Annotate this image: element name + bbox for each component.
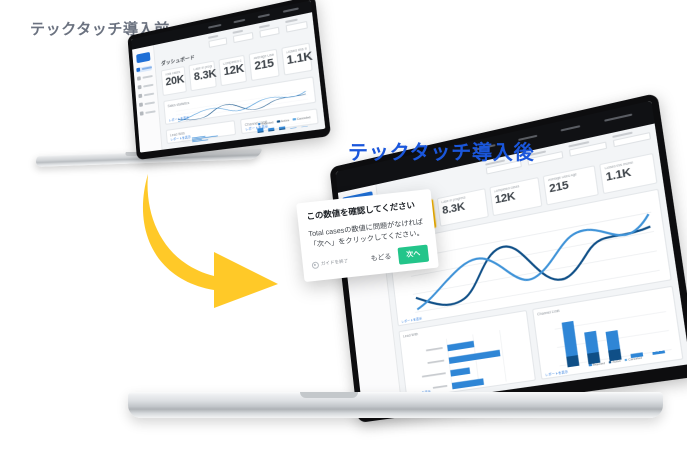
kpi-card-total-cases[interactable]: Total cases 20K bbox=[161, 65, 188, 96]
kpi-card-case-in-progress[interactable]: Case in progress 8.3K bbox=[189, 60, 217, 91]
tooltip-body: Total casesの数値に問題がなければ「次へ」をクリックしてください。 bbox=[308, 215, 427, 250]
laptop-after-notch bbox=[300, 392, 358, 398]
kpi-card-closed-this-month[interactable]: Closed this month 1.1K bbox=[281, 42, 313, 76]
folder-icon bbox=[137, 76, 141, 81]
laptop-after-base bbox=[128, 392, 663, 418]
help-icon bbox=[140, 111, 144, 115]
sidebar-item-settings[interactable] bbox=[139, 100, 155, 107]
gear-icon bbox=[139, 102, 143, 107]
sidebar-item-customers[interactable] bbox=[138, 91, 154, 99]
filter-status[interactable] bbox=[286, 16, 308, 32]
kpi-value: 1.1K bbox=[286, 51, 309, 70]
kpi-card-completed-cases[interactable]: Completed cases 12K bbox=[218, 54, 247, 86]
filter-period[interactable] bbox=[208, 33, 228, 48]
sidebar-item-dashboard[interactable] bbox=[136, 65, 152, 73]
exit-guide-label: ガイドを終了 bbox=[321, 259, 349, 268]
kpi-value: 215 bbox=[254, 57, 276, 75]
back-button[interactable]: もどる bbox=[369, 250, 393, 266]
tooltip-actions: もどる 次へ bbox=[369, 245, 429, 268]
heading-after-techtouch: テックタッチ導入後 bbox=[348, 136, 534, 165]
exit-guide-toggle[interactable]: ガイドを終了 bbox=[312, 258, 349, 269]
kpi-value: 8.3K bbox=[193, 68, 213, 85]
sidebar-item-cases[interactable] bbox=[137, 74, 153, 82]
laptop-before: ダッシュボード Total cases 20K Case in progress… bbox=[30, 30, 320, 170]
kpi-card-case-in-progress[interactable]: Case in progress 8.3K bbox=[437, 188, 489, 226]
kpi-card-completed-cases[interactable]: Completed cases 12K bbox=[489, 177, 543, 216]
curved-arrow-icon bbox=[138, 168, 288, 308]
radio-icon[interactable] bbox=[312, 261, 320, 269]
filter-category[interactable] bbox=[259, 22, 281, 38]
kpi-card-average-used-age[interactable]: Average Used Age 215 bbox=[543, 165, 599, 205]
chart-icon bbox=[138, 85, 142, 90]
sidebar-item-reports[interactable] bbox=[138, 82, 154, 90]
next-button[interactable]: 次へ bbox=[398, 245, 430, 265]
guide-tooltip[interactable]: この数値を確認してください Total casesの数値に問題がなければ「次へ」… bbox=[296, 189, 439, 282]
tooltip-footer: ガイドを終了 もどる 次へ bbox=[311, 245, 429, 275]
sidebar-item-help[interactable] bbox=[140, 109, 156, 116]
grid-icon bbox=[136, 68, 140, 73]
kpi-value: 20K bbox=[165, 74, 184, 91]
user-icon bbox=[138, 94, 142, 99]
kpi-value: 12K bbox=[223, 63, 244, 81]
app-logo bbox=[136, 51, 150, 62]
kpi-card-average-used-age[interactable]: Average Used Age 215 bbox=[249, 48, 280, 81]
filter-site[interactable] bbox=[233, 27, 254, 42]
